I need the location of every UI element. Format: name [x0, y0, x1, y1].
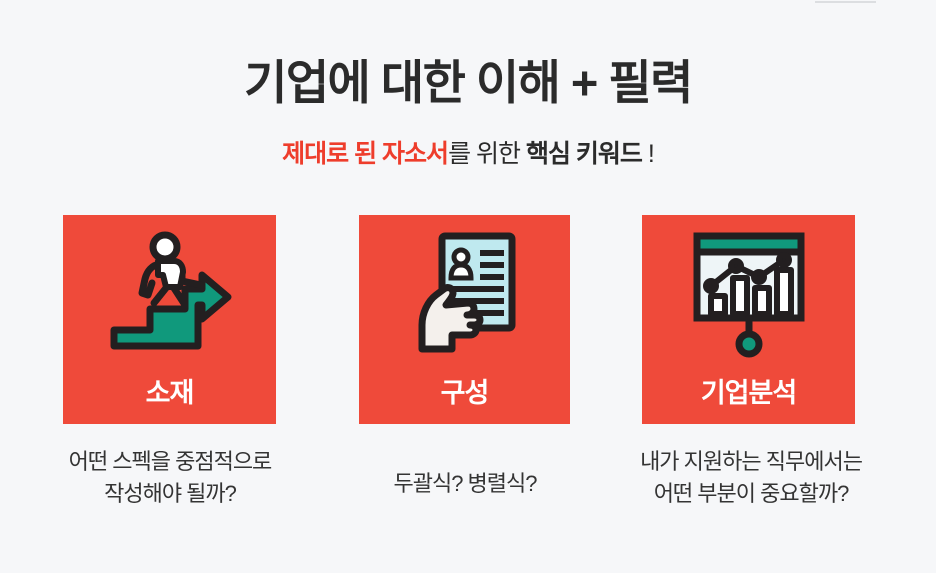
caption-soje: 어떤 스펙을 중점적으로 작성해야 될까?: [20, 446, 320, 510]
caption-analysis: 내가 지원하는 직무에서는 어떤 부분이 중요할까?: [596, 446, 906, 510]
subtitle-strong-text: 핵심 키워드: [526, 140, 642, 168]
keyword-card-label: 소재: [63, 380, 276, 407]
person-climbing-stairs-arrow-icon: [63, 229, 276, 359]
subtitle-accent-text: 제대로 된 자소서: [282, 140, 448, 168]
caption-line: 작성해야 될까?: [20, 478, 320, 510]
caption-line: 어떤 부분이 중요할까?: [596, 478, 906, 510]
keyword-card-soje[interactable]: 소재: [63, 215, 276, 424]
subtitle-middle-text: 를 위한: [448, 140, 526, 168]
page-title: 기업에 대한 이해 + 필력: [0, 57, 936, 109]
keyword-card-analysis[interactable]: 기업분석: [642, 215, 855, 424]
caption-row: 어떤 스펙을 중점적으로 작성해야 될까? 두괄식? 병렬식? 내가 지원하는 …: [0, 446, 936, 536]
keyword-card-label: 기업분석: [642, 380, 855, 407]
presentation-bar-chart-board-icon: [642, 229, 855, 359]
caption-guseong: 두괄식? 병렬식?: [350, 468, 580, 500]
caption-line: 두괄식? 병렬식?: [350, 468, 580, 500]
caption-line: 어떤 스펙을 중점적으로: [20, 446, 320, 478]
hand-holding-resume-document-icon: [359, 229, 570, 359]
page-subtitle: 제대로 된 자소서를 위한 핵심 키워드 !: [0, 139, 936, 169]
keyword-card-row: 소재: [0, 215, 936, 425]
keyword-card-guseong[interactable]: 구성: [359, 215, 570, 424]
top-divider-line: [815, 1, 876, 3]
caption-line: 내가 지원하는 직무에서는: [596, 446, 906, 478]
keyword-card-label: 구성: [359, 380, 570, 407]
subtitle-suffix-text: !: [642, 140, 654, 168]
